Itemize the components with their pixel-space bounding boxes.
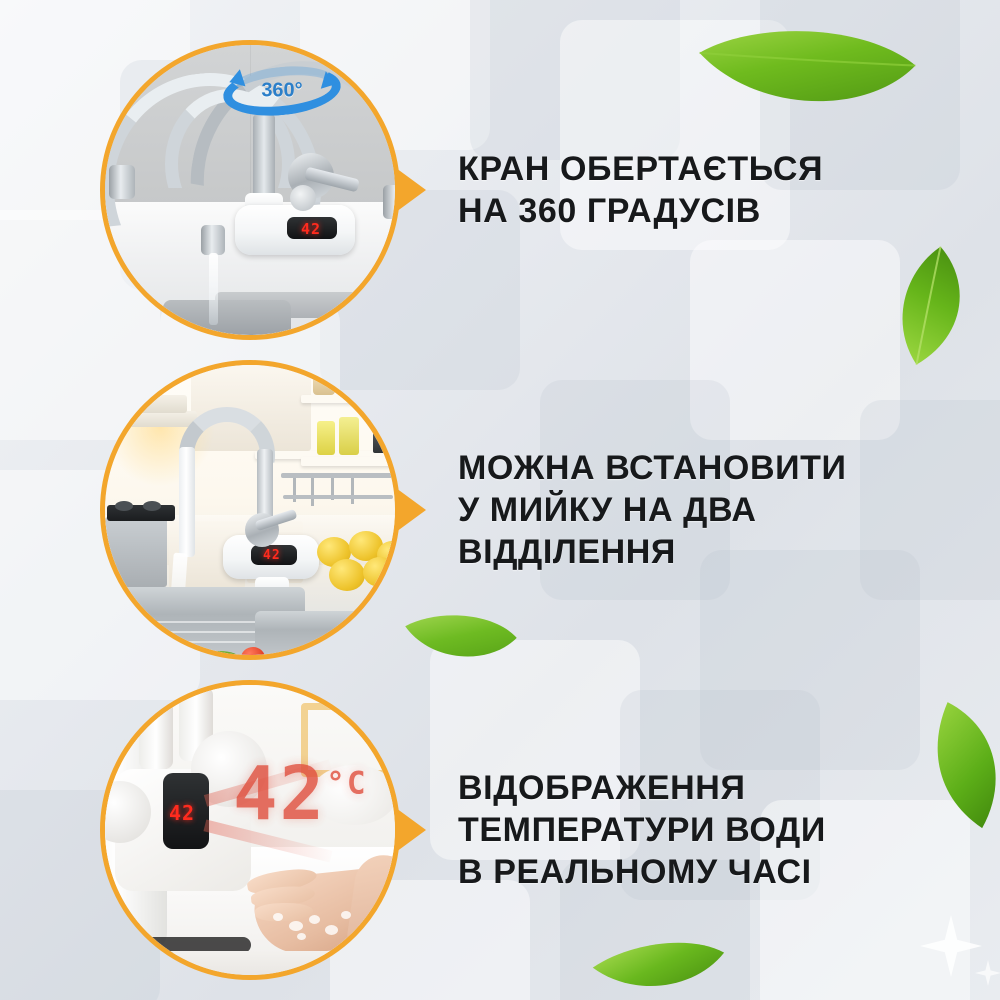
caption-line: ВІДОБРАЖЕННЯ: [458, 767, 826, 809]
feature-photo-wrapper-rotation: 42 360°: [100, 40, 400, 340]
led-temperature-photo1: 42: [301, 220, 321, 238]
product-infographic-poster: 42 360° КРАН ОБЕРТА: [0, 0, 1000, 1000]
feature-photo-wrapper-temperature: 42 42°C: [100, 680, 400, 980]
badge-360-degrees: 360°: [223, 67, 341, 115]
badge-360-label: 360°: [223, 80, 341, 103]
caption-line: В РЕАЛЬНОМУ ЧАСІ: [458, 851, 826, 893]
pointer-arrow-rotation: [396, 168, 426, 212]
pointer-arrow-temperature: [396, 808, 426, 852]
feature-caption-rotation: КРАН ОБЕРТАЄТЬСЯ НА 360 ГРАДУСІВ: [458, 148, 823, 232]
feature-row-temperature: 42 42°C: [100, 680, 980, 980]
feature-photo-temperature[interactable]: 42 42°C: [100, 680, 400, 980]
feature-caption-temperature: ВІДОБРАЖЕННЯ ТЕМПЕРАТУРИ ВОДИ В РЕАЛЬНОМ…: [458, 767, 826, 893]
caption-line: ТЕМПЕРАТУРИ ВОДИ: [458, 809, 826, 851]
caption-line: КРАН ОБЕРТАЄТЬСЯ: [458, 148, 823, 190]
caption-line: ВІДДІЛЕННЯ: [458, 531, 847, 573]
feature-photo-rotation[interactable]: 42 360°: [100, 40, 400, 340]
led-temperature-photo2: 42: [263, 548, 281, 563]
feature-photo-wrapper-double-sink: 42: [100, 360, 400, 660]
magnified-temperature-value: 42: [233, 751, 326, 837]
caption-line: НА 360 ГРАДУСІВ: [458, 190, 823, 232]
feature-photo-double-sink[interactable]: 42: [100, 360, 400, 660]
pointer-arrow-double-sink: [396, 488, 426, 532]
led-temperature-photo3: 42: [169, 801, 195, 825]
feature-caption-double-sink: МОЖНА ВСТАНОВИТИ У МИЙКУ НА ДВА ВІДДІЛЕН…: [458, 447, 847, 573]
feature-row-rotation: 42 360° КРАН ОБЕРТА: [100, 40, 980, 340]
caption-line: У МИЙКУ НА ДВА: [458, 489, 847, 531]
caption-line: МОЖНА ВСТАНОВИТИ: [458, 447, 847, 489]
feature-row-double-sink: 42: [100, 360, 980, 660]
magnified-temperature-unit: °C: [326, 765, 367, 801]
magnified-temperature: 42°C: [233, 751, 368, 837]
